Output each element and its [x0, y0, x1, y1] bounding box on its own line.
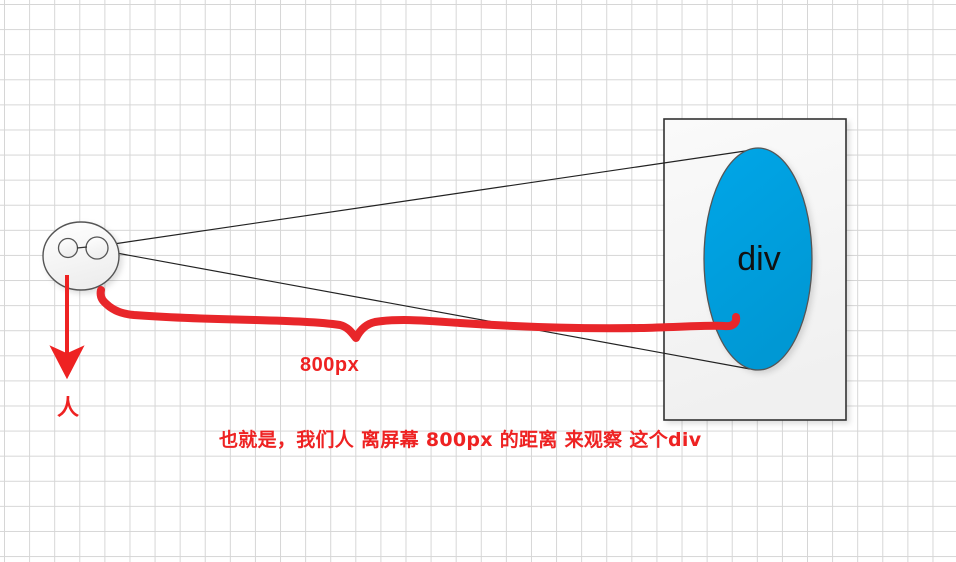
div-ellipse-label: div	[705, 240, 813, 279]
distance-freehand-line	[101, 290, 737, 338]
sight-line-top	[100, 150, 752, 246]
eye-right	[86, 237, 108, 259]
diagram-svg	[0, 0, 956, 562]
eye-left	[59, 239, 78, 258]
observer-head	[43, 222, 119, 290]
diagram-canvas: div 800px 人 也就是，我们人 离屏幕 800px 的距离 来观察 这个…	[0, 0, 956, 562]
person-glyph-label: 人	[57, 390, 79, 422]
caption-text: 也就是，我们人 离屏幕 800px 的距离 来观察 这个div	[219, 425, 701, 452]
sight-line-bottom	[100, 250, 750, 369]
distance-label: 800px	[300, 354, 359, 377]
